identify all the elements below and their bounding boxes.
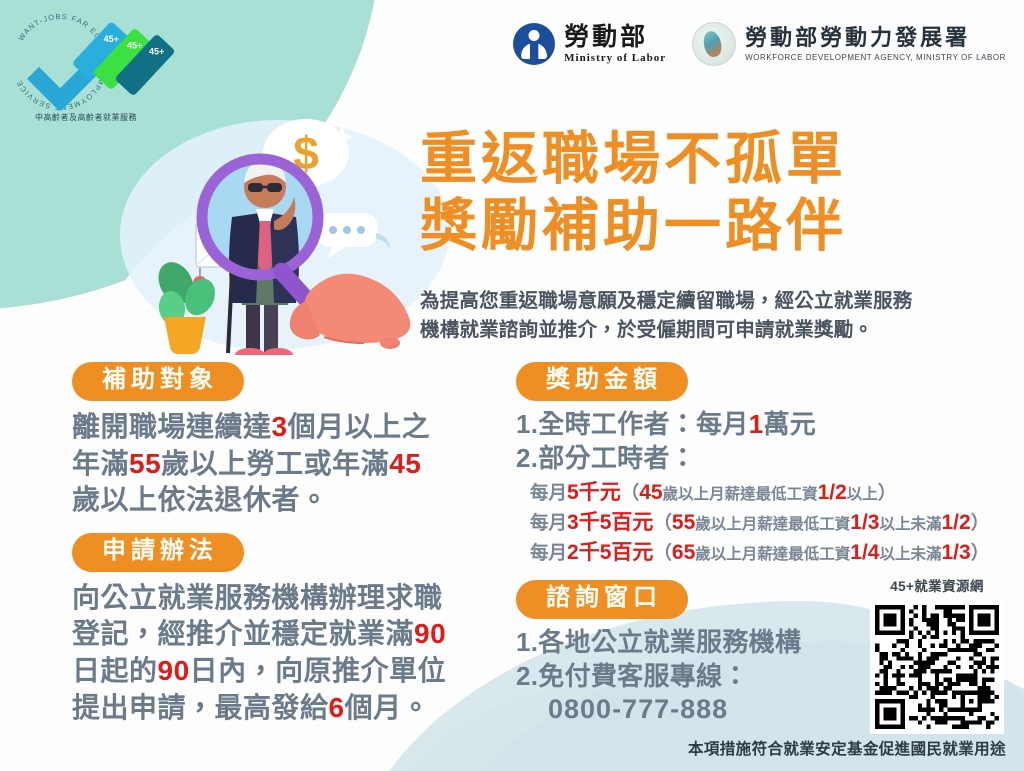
section-pill-eligibility: 補助對象 [72, 362, 244, 401]
text-line: 2.部分工時者： [516, 442, 1016, 476]
text-line: 1.全時工作者：每月1萬元 [516, 408, 1016, 442]
hero-illustration: $ [128, 105, 428, 355]
left-column: 補助對象 離開職場連續達3個月以上之年滿55歲以上勞工或年滿45歲以上依法退休者… [72, 362, 492, 726]
subtitle-line-2: 機構就業諮詢並推介，於受僱期間可申請就業獎勵。 [420, 316, 995, 345]
headline-line-1: 重返職場不孤單 [420, 126, 980, 193]
ministry-of-labor-name-en: Ministry of Labor [564, 52, 666, 64]
fine-print-line: 每月2千5百元（65歲以上月薪達最低工資1/4以上未滿1/3） [530, 538, 1016, 568]
headline-line-2: 獎勵補助一路伴 [420, 193, 980, 260]
ministry-of-labor-logo: 勞動部 Ministry of Labor [513, 23, 666, 65]
application-body: 向公立就業服務機構辦理求職登記，經推介並穩定就業滿90日起的90日內，向原推介單… [72, 580, 492, 727]
qr-block: 45+就業資源網 [862, 575, 1012, 734]
qr-code-icon[interactable] [870, 600, 1004, 734]
amount-items: 1.全時工作者：每月1萬元2.部分工時者： [516, 408, 1016, 476]
footer-note: 本項措施符合就業安定基金促進國民就業用途 [688, 737, 1006, 759]
text-line: 提出申請，最高發給6個月。 [72, 690, 492, 727]
workforce-development-agency-logo: 勞動部勞動力發展署 WORKFORCE DEVELOPMENT AGENCY, … [692, 22, 1006, 66]
headline: 重返職場不孤單 獎勵補助一路伴 [420, 126, 980, 259]
text-line: 歲以上依法退休者。 [72, 482, 492, 519]
poster-root: WANT-JOBS FAR ELDERLY EMPLOYMENT SERVICE… [0, 0, 1024, 771]
wda-name-en: WORKFORCE DEVELOPMENT AGENCY, MINISTRY O… [745, 53, 1006, 62]
amount-fine-print: 每月5千元（45歲以上月薪達最低工資1/2以上）每月3千5百元（55歲以上月薪達… [516, 478, 1016, 567]
text-line: 離開職場連續達3個月以上之 [72, 409, 492, 446]
fine-print-line: 每月5千元（45歲以上月薪達最低工資1/2以上） [530, 478, 1016, 508]
subtitle-line-1: 為提高您重返職場意願及穩定續留職場，經公立就業服務 [420, 287, 995, 316]
hand-icon [290, 274, 411, 349]
text-line: 年滿55歲以上勞工或年滿45 [72, 446, 492, 483]
eligibility-body: 離開職場連續達3個月以上之年滿55歲以上勞工或年滿45歲以上依法退休者。 [72, 409, 492, 519]
qr-label: 45+就業資源網 [862, 575, 1012, 595]
wda-emblem-icon [692, 22, 736, 66]
header-logos: 勞動部 Ministry of Labor 勞動部勞動力發展署 WORKFORC… [513, 22, 1006, 66]
text-line: 登記，經推介並穩定就業滿90 [72, 616, 492, 653]
subtitle: 為提高您重返職場意願及穩定續留職場，經公立就業服務 機構就業諮詢並推介，於受僱期… [420, 287, 995, 345]
fine-print-line: 每月3千5百元（55歲以上月薪達最低工資1/3以上未滿1/2） [530, 508, 1016, 538]
potted-plant-icon [152, 256, 221, 354]
text-line: 向公立就業服務機構辦理求職 [72, 580, 492, 617]
ministry-of-labor-name-zh: 勞動部 [564, 24, 666, 50]
section-pill-amount: 獎助金額 [516, 362, 688, 401]
text-line: 日起的90日內，向原推介單位 [72, 653, 492, 690]
ministry-of-labor-emblem-icon [513, 23, 555, 65]
wda-name-zh: 勞動部勞動力發展署 [745, 26, 1006, 49]
logo-bar-label: 45+ [149, 48, 164, 57]
section-pill-application: 申請辦法 [72, 533, 244, 572]
chat-bubble-icon [316, 213, 390, 259]
section-pill-contact: 諮詢窗口 [516, 580, 688, 619]
logo-bar-label: 45+ [104, 35, 119, 44]
